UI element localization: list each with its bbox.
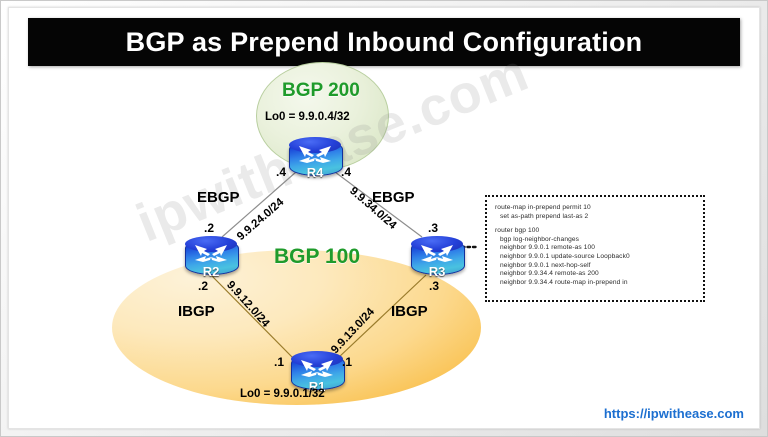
config-line: neighbor 9.9.0.1 update-source Loopback0 — [495, 253, 697, 262]
config-line: neighbor 9.9.0.1 next-hop-self — [495, 262, 697, 271]
config-line: neighbor 9.9.0.1 remote-as 100 — [495, 244, 697, 253]
as-loopback-bgp-200: Lo0 = 9.9.0.4/32 — [265, 111, 350, 123]
config-line: neighbor 9.9.34.4 remote-as 200 — [495, 270, 697, 279]
router-label: R2 — [185, 264, 237, 279]
iface-r3-to-r1: .3 — [429, 279, 439, 293]
iface-r1-to-r3: .1 — [342, 355, 352, 369]
iface-r4-to-r3: .4 — [341, 165, 351, 179]
config-line: set as-path prepend last-as 2 — [495, 213, 697, 222]
router-arrows-icon — [193, 242, 229, 263]
router-r1-loopback-label: Lo0 = 9.9.0.1/32 — [240, 388, 325, 400]
iface-r2-to-r4: .2 — [204, 221, 214, 235]
diagram-canvas: BGP as Prepend Inbound Configuration ipw… — [0, 0, 768, 437]
router-label: R4 — [289, 165, 341, 180]
router-r2[interactable]: R2 — [185, 236, 237, 276]
config-line: router bgp 100 — [495, 227, 697, 236]
protocol-label-ibgp-r2: IBGP — [178, 303, 215, 320]
iface-r3-to-r4: .3 — [428, 221, 438, 235]
router-arrows-icon — [297, 143, 333, 164]
config-line: neighbor 9.9.34.4 route-map in-prepend i… — [495, 279, 697, 288]
protocol-label-ibgp-r3: IBGP — [391, 303, 428, 320]
router-r3[interactable]: R3 — [411, 236, 463, 276]
footer-url-link[interactable]: https://ipwithease.com — [604, 406, 744, 421]
router-arrows-icon — [299, 357, 335, 378]
protocol-label-ebgp-r3: EBGP — [372, 189, 415, 206]
iface-r4-to-r2: .4 — [276, 165, 286, 179]
bgp-config-box: route-map in-prepend permit 10 set as-pa… — [485, 195, 705, 302]
router-r4[interactable]: R4 — [289, 137, 341, 177]
router-label: R3 — [411, 264, 463, 279]
router-arrows-icon — [419, 242, 455, 263]
diagram-content: BGP as Prepend Inbound Configuration ipw… — [8, 7, 760, 429]
iface-r2-to-r1: .2 — [198, 279, 208, 293]
as-label-bgp-200: BGP 200 — [282, 80, 360, 102]
as-label-bgp-100: BGP 100 — [274, 245, 360, 269]
config-line: route-map in-prepend permit 10 — [495, 204, 697, 213]
iface-r1-to-r2: .1 — [274, 355, 284, 369]
protocol-label-ebgp-r2: EBGP — [197, 189, 240, 206]
config-line: bgp log-neighbor-changes — [495, 236, 697, 245]
router-r1[interactable]: R1 — [291, 351, 343, 391]
